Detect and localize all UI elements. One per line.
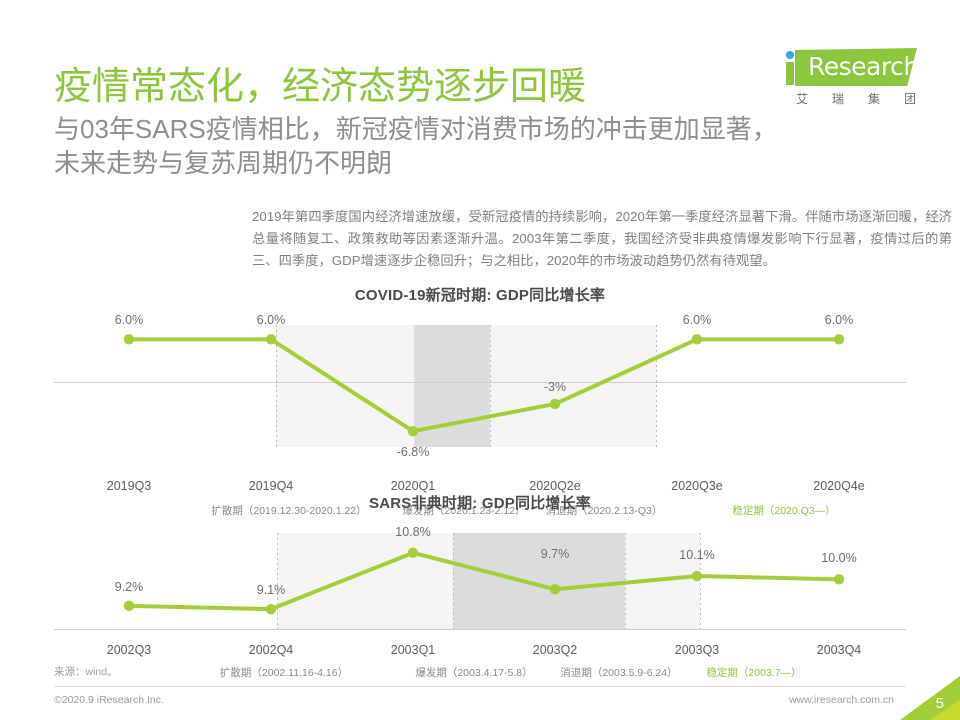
- data-point: [692, 571, 702, 581]
- logo-cn-char-3: 团: [904, 90, 916, 107]
- data-point: [550, 399, 560, 409]
- page-title: 疫情常态化，经济态势逐步回暖: [54, 55, 586, 110]
- data-point: [692, 334, 702, 344]
- phase-annotation: 扩散期（2002.11.16-4.16）: [220, 665, 348, 680]
- data-point: [266, 334, 276, 344]
- logo-cn-char-2: 集: [868, 90, 880, 107]
- x-axis-label: 2020Q4e: [813, 479, 864, 493]
- data-point: [550, 584, 560, 594]
- slide: 疫情常态化，经济态势逐步回暖 与03年SARS疫情相比，新冠疫情对消费市场的冲击…: [0, 0, 960, 720]
- logo-wordmark: Research: [808, 52, 919, 81]
- website-url: www.iresearch.com.cn: [789, 694, 894, 706]
- value-label: 6.0%: [257, 313, 286, 327]
- x-axis-label: 2020Q1: [391, 479, 435, 493]
- value-label: 10.1%: [679, 548, 714, 562]
- page-number: 5: [936, 695, 944, 712]
- chart-covid19-plot: 6.0%6.0%-6.8%-3%6.0%6.0%: [54, 325, 906, 447]
- value-label: 6.0%: [115, 313, 144, 327]
- phase-annotation: 消退期（2003.5.9-6.24）: [560, 665, 677, 680]
- x-axis-label: 2020Q2e: [529, 479, 580, 493]
- data-point: [124, 334, 134, 344]
- subtitle-line-1: 与03年SARS疫情相比，新冠疫情对消费市场的冲击更加显著，: [54, 112, 944, 146]
- x-axis-label: 2019Q4: [249, 479, 293, 493]
- logo-cn-char-1: 瑞: [832, 90, 844, 107]
- value-label: 9.1%: [257, 583, 286, 597]
- page-subtitle: 与03年SARS疫情相比，新冠疫情对消费市场的冲击更加显著， 未来走势与复苏周期…: [54, 112, 944, 180]
- phase-annotation: 爆发期（2003.4.17-5.8）: [415, 665, 532, 680]
- data-point: [834, 334, 844, 344]
- chart-sars: SARS非典时期: GDP同比增长率 9.2%9.1%10.8%9.7%10.1…: [54, 492, 906, 629]
- subtitle-line-2: 未来走势与复苏周期仍不明朗: [54, 146, 944, 180]
- x-axis-label: 2002Q3: [107, 643, 151, 657]
- x-axis-label: 2002Q4: [249, 643, 293, 657]
- data-point: [266, 604, 276, 614]
- phase-annotation: 稳定期（2003.7—）: [706, 665, 801, 680]
- data-point: [124, 601, 134, 611]
- value-label: 10.0%: [821, 551, 856, 565]
- chart-sars-baseline: [54, 629, 906, 630]
- x-axis-label: 2003Q2: [533, 643, 577, 657]
- data-point: [834, 574, 844, 584]
- chart-sars-title: SARS非典时期: GDP同比增长率: [54, 492, 906, 513]
- x-axis-label: 2003Q1: [391, 643, 435, 657]
- x-axis-label: 2003Q3: [675, 643, 719, 657]
- value-label: -6.8%: [397, 445, 430, 459]
- source-note: 来源：wind。: [54, 664, 118, 679]
- x-axis-label: 2020Q3e: [671, 479, 722, 493]
- value-label: 9.7%: [541, 547, 570, 561]
- chart-covid19-title: COVID-19新冠时期: GDP同比增长率: [54, 284, 906, 305]
- data-point: [408, 548, 418, 558]
- corner-decoration: [880, 650, 960, 720]
- body-paragraph: 2019年第四季度国内经济增速放缓，受新冠疫情的持续影响，2020年第一季度经济…: [252, 206, 952, 272]
- chart-sars-series: [54, 533, 906, 629]
- logo-cn-char-0: 艾: [796, 90, 808, 107]
- chart-sars-plot: 9.2%9.1%10.8%9.7%10.1%10.0%: [54, 533, 906, 629]
- data-point: [408, 426, 418, 436]
- logo-i-stem: [786, 62, 794, 85]
- logo-i-dot-icon: [786, 51, 794, 59]
- value-label: 6.0%: [825, 313, 854, 327]
- logo-mark: Research: [782, 48, 917, 86]
- copyright-text: ©2020.9 iResearch Inc.: [54, 694, 164, 706]
- chart-covid19-series: [54, 325, 906, 447]
- value-label: -3%: [544, 380, 566, 394]
- value-label: 10.8%: [395, 525, 430, 539]
- value-label: 9.2%: [115, 580, 144, 594]
- x-axis-label: 2019Q3: [107, 479, 151, 493]
- iresearch-logo: Research 艾 瑞 集 团: [782, 48, 917, 110]
- footer-divider: [54, 686, 906, 687]
- x-axis-label: 2003Q4: [817, 643, 861, 657]
- chart-covid19: COVID-19新冠时期: GDP同比增长率 6.0%6.0%-6.8%-3%6…: [54, 284, 906, 447]
- value-label: 6.0%: [683, 313, 712, 327]
- logo-chinese-name: 艾 瑞 集 团: [796, 90, 916, 107]
